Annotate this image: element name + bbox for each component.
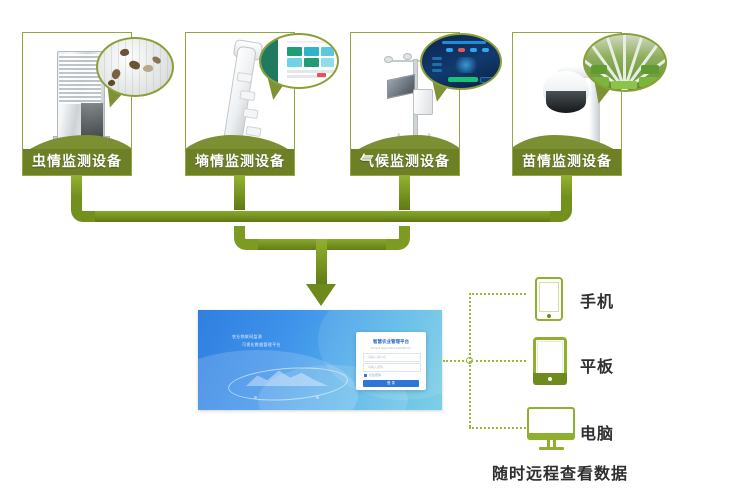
connector-center-drop bbox=[316, 239, 327, 287]
device-card-label-pest: 虫情监测设备 bbox=[23, 149, 131, 175]
platform-screenshot[interactable]: 农业物联网监测 可视化数据管理平台 智慧农业管理平台 Smart Agricul… bbox=[198, 310, 442, 410]
device-card-label-crop: 苗情监测设备 bbox=[513, 149, 621, 175]
client-label-pc: 电脑 bbox=[580, 420, 614, 444]
login-subtitle: Smart Agriculture Platform bbox=[356, 346, 426, 350]
login-remember-checkbox[interactable] bbox=[364, 374, 367, 377]
connector-elbow-inner-left bbox=[234, 226, 260, 250]
connector-arrow-head bbox=[306, 284, 336, 306]
dotted-link-phone bbox=[469, 293, 526, 295]
sticky-board-moths-icon bbox=[96, 37, 174, 97]
desktop-monitor-icon[interactable] bbox=[527, 407, 575, 451]
login-submit-button[interactable]: 登 录 bbox=[363, 380, 419, 387]
client-label-phone: 手机 bbox=[580, 288, 614, 312]
connector-stem-2 bbox=[234, 176, 245, 210]
login-title: 智慧农业管理平台 bbox=[356, 339, 426, 345]
dark-map-dashboard-icon bbox=[420, 33, 502, 90]
diagram-canvas: 虫情监测设备 墒情监测设备 bbox=[0, 0, 750, 500]
connector-stem-3 bbox=[399, 176, 410, 210]
platform-hero-line-1: 农业物联网监测 bbox=[232, 334, 262, 340]
client-label-tablet: 平板 bbox=[580, 353, 614, 377]
dotted-link-pc bbox=[469, 427, 526, 429]
platform-login-card[interactable]: 智慧农业管理平台 Smart Agriculture Platform 请输入用… bbox=[356, 332, 426, 390]
login-password-placeholder: 请输入密码 bbox=[368, 365, 383, 369]
dotted-link-tablet bbox=[471, 360, 526, 362]
platform-hero-line-2: 可视化数据管理平台 bbox=[242, 342, 281, 348]
connector-elbow-inner-right bbox=[384, 226, 410, 250]
mobile-phone-icon[interactable] bbox=[535, 277, 563, 321]
greenhouse-rows-icon bbox=[583, 33, 667, 92]
data-table-dashboard-icon bbox=[259, 33, 339, 89]
device-card-label-climate: 气候监测设备 bbox=[351, 149, 459, 175]
device-card-label-soil: 墒情监测设备 bbox=[186, 149, 294, 175]
login-username-placeholder: 请输入用户名 bbox=[368, 355, 386, 359]
tablet-icon[interactable] bbox=[533, 337, 567, 385]
dotted-link-platform-to-bus bbox=[443, 360, 468, 362]
diagram-caption: 随时远程查看数据 bbox=[492, 460, 628, 484]
connector-elbow-outer-left bbox=[71, 198, 97, 222]
connector-bar-outer bbox=[95, 211, 550, 222]
login-remember-label: 记住密码 bbox=[369, 373, 381, 377]
